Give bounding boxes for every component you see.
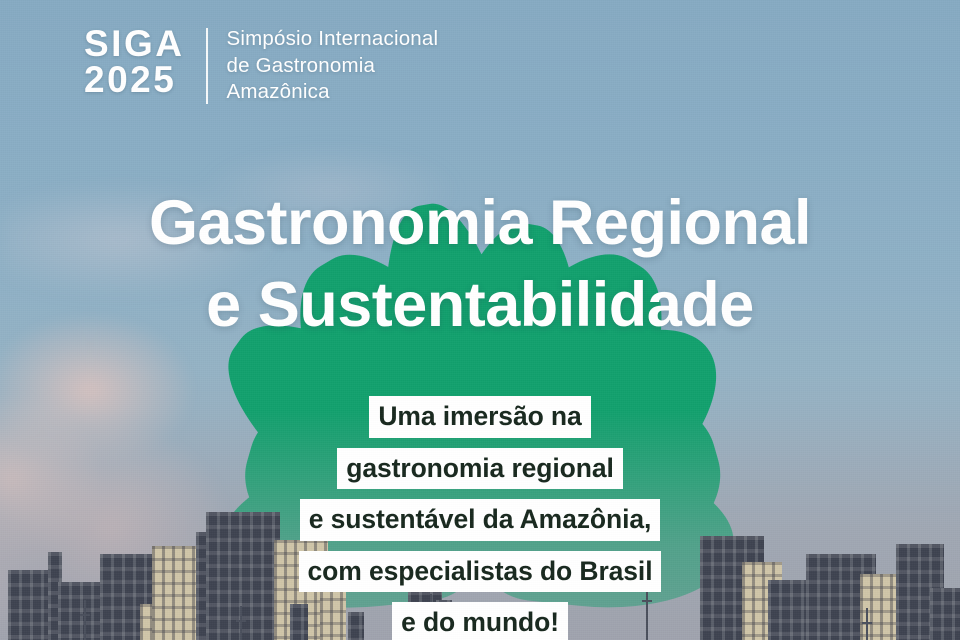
description-highlight: e sustentável da Amazônia, (300, 499, 661, 541)
description-line: gastronomia regional (0, 448, 960, 490)
description-line: com especialistas do Brasil (0, 551, 960, 593)
page-title: Gastronomia Regional e Sustentabilidade (0, 182, 960, 346)
description-line: Uma imersão na (0, 396, 960, 438)
event-subtitle: Simpósio Internacional de Gastronomia Am… (226, 26, 438, 106)
description-highlight: gastronomia regional (337, 448, 622, 490)
logo-line-siga: SIGA (84, 26, 184, 62)
description-highlight: Uma imersão na (369, 396, 590, 438)
description-line: e sustentável da Amazônia, (0, 499, 960, 541)
event-description: Uma imersão nagastronomia regionale sust… (0, 396, 960, 640)
headline-line-1: Gastronomia Regional (0, 182, 960, 264)
logo-line-year: 2025 (84, 62, 184, 98)
siga-logo: SIGA 2025 (84, 26, 184, 98)
event-poster: SIGA 2025 Simpósio Internacional de Gast… (0, 0, 960, 640)
description-highlight: e do mundo! (392, 602, 568, 640)
headline-line-2: e Sustentabilidade (0, 264, 960, 346)
description-line: e do mundo! (0, 602, 960, 640)
brand-lockup: SIGA 2025 Simpósio Internacional de Gast… (84, 26, 438, 106)
description-highlight: com especialistas do Brasil (299, 551, 662, 593)
logo-divider-rule (206, 28, 208, 104)
subtitle-line-1: Simpósio Internacional (226, 26, 438, 53)
subtitle-line-3: Amazônica (226, 79, 438, 106)
subtitle-line-2: de Gastronomia (226, 53, 438, 80)
